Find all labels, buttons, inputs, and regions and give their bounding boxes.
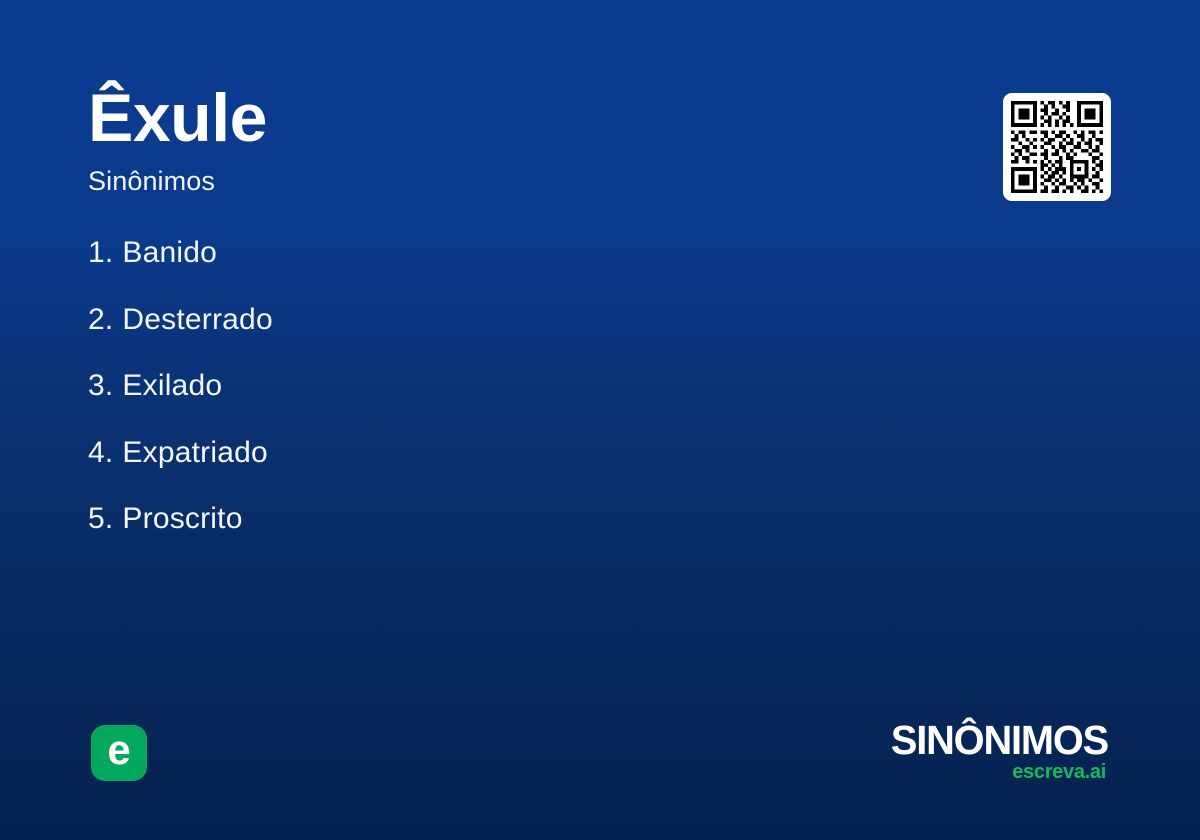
list-item-label: Banido bbox=[122, 236, 217, 270]
list-item-index: 3. bbox=[88, 369, 113, 403]
section-label: Sinônimos bbox=[88, 168, 908, 195]
list-item: 4. Expatriado bbox=[88, 436, 908, 503]
list-item: 5. Proscrito bbox=[88, 502, 908, 569]
list-item-index: 2. bbox=[88, 303, 113, 337]
list-item-label: Expatriado bbox=[122, 436, 267, 470]
list-item-index: 4. bbox=[88, 436, 113, 470]
headline-block: Êxule Sinônimos bbox=[88, 84, 908, 195]
escreva-e-logo-icon[interactable]: e bbox=[91, 725, 147, 781]
list-item-label: Desterrado bbox=[122, 303, 272, 337]
list-item-label: Exilado bbox=[122, 369, 222, 403]
brand-logo-title: SINÔNIMOS bbox=[798, 722, 1108, 760]
qr-code-icon bbox=[1011, 101, 1103, 193]
list-item-label: Proscrito bbox=[122, 502, 242, 536]
synonym-card: Êxule Sinônimos 1. Banido 2. Desterrado … bbox=[0, 0, 1200, 840]
synonym-list: 1. Banido 2. Desterrado 3. Exilado 4. Ex… bbox=[88, 236, 908, 569]
list-item-index: 1. bbox=[88, 236, 113, 270]
brand-badge-letter: e bbox=[107, 729, 130, 771]
list-item: 3. Exilado bbox=[88, 369, 908, 436]
list-item: 1. Banido bbox=[88, 236, 908, 303]
brand-logo[interactable]: SINÔNIMOS escreva.ai bbox=[788, 722, 1108, 782]
list-item-index: 5. bbox=[88, 502, 113, 536]
list-item: 2. Desterrado bbox=[88, 303, 908, 370]
brand-logo-domain: escreva.ai bbox=[788, 762, 1108, 782]
qr-code[interactable] bbox=[1003, 93, 1111, 201]
page-title: Êxule bbox=[88, 84, 908, 152]
